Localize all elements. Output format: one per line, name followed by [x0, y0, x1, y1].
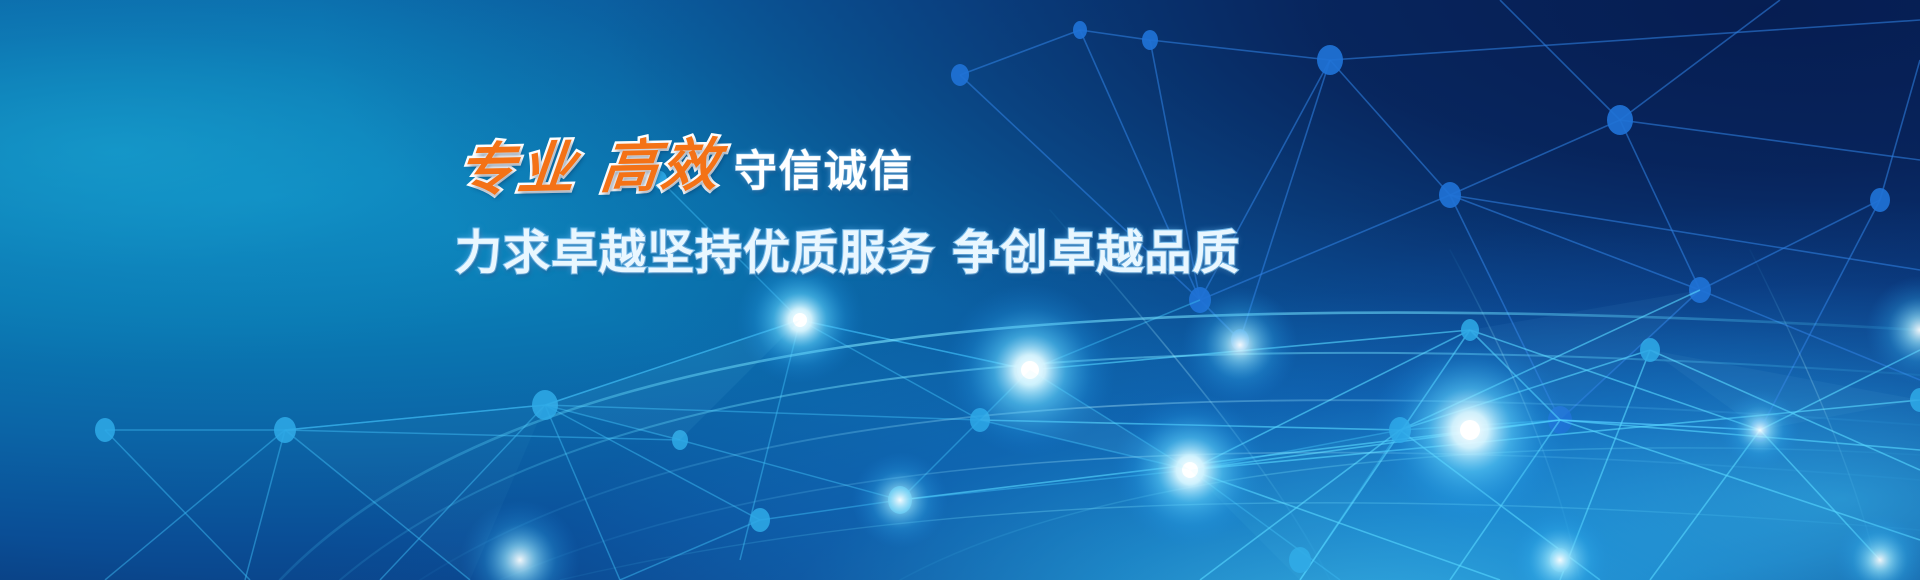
hero-banner: 专业 高效守信诚信 力求卓越坚持优质服务 争创卓越品质 — [0, 0, 1920, 580]
background-vignette — [0, 0, 1920, 580]
